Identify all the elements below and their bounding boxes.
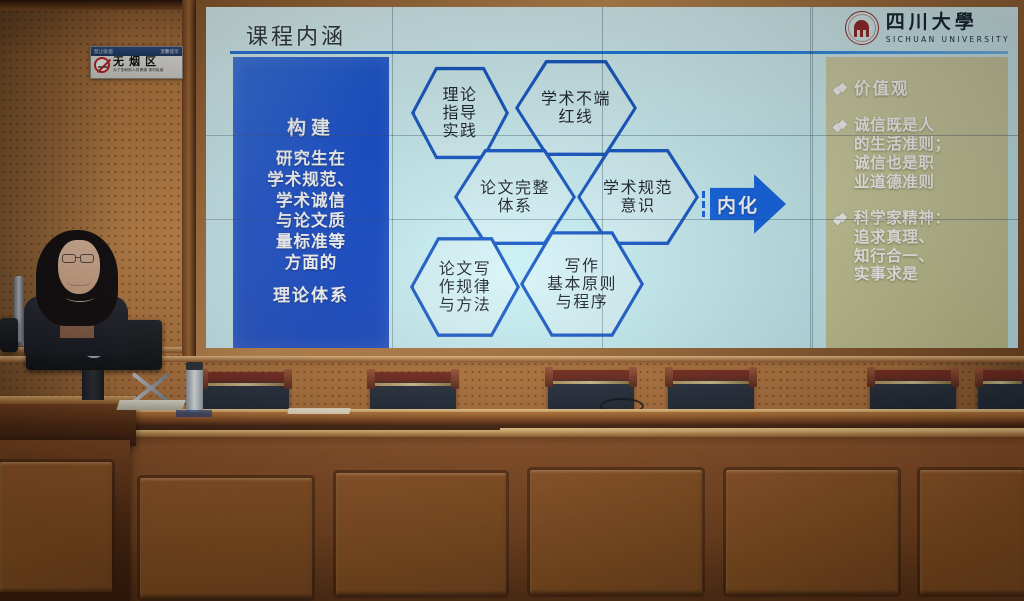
presenter-glasses-bridge [76,257,81,258]
monitor-stand [82,370,104,400]
presentation-slide: 课程内涵 四川大學 SICHUAN UNIVERSITY 构建 [206,7,1018,348]
wood-panel [726,470,898,594]
hex-line: 红线 [541,108,611,126]
hex-line: 实践 [442,122,477,140]
values-item: 价值观 [834,79,1000,99]
hex-line: 学术规范 [603,179,673,197]
scu-emblem-icon [845,11,879,45]
presenter-glasses-left [62,254,76,263]
values-item: 诚信既是人 的生活准则； 诚信也是职 业道德准则 [834,116,1000,192]
hex-misconduct-redline: 学术不端 红线 [515,58,637,158]
sign-sub-text: 为了您和他人的健康 请勿吸烟 [113,68,164,72]
values-panel: 价值观 诚信既是人 的生活准则； 诚信也是职 业道德准则 [826,57,1008,348]
laptop-on-stand[interactable] [116,400,185,410]
led-tile-seam [812,7,813,348]
led-tile-seam [392,7,393,348]
blue-block-line: 学术诚信 [267,191,355,212]
hex-theory-guides-practice: 理论 指导 实践 [411,65,509,161]
hex-line: 体系 [480,197,550,215]
wood-panel [336,473,506,595]
internalize-arrow-group: 内化 [702,173,786,235]
hex-line: 作规律 [439,278,492,296]
scu-logo: 四川大學 SICHUAN UNIVERSITY [845,11,1010,45]
mouse-pad [176,410,212,417]
sign-main-text: 无 烟 区 [113,57,164,68]
values-line: 诚信也是职 [854,154,951,173]
led-tile-seam [810,7,811,348]
sign-header: 禁止吸烟 温馨提示 [91,47,182,56]
thermos-cap [186,362,203,370]
hex-line: 意识 [603,197,673,215]
title-underline-rule [230,51,1008,54]
blue-block-line: 与论文质 [267,211,355,232]
hex-line: 写作 [547,257,617,275]
internalize-arrow-icon: 内化 [710,173,786,235]
hex-writing-principles: 写作 基本原则 与程序 [520,229,644,339]
diamond-bullet-icon [834,84,847,97]
values-item: 科学家精神： 追求真理、 知行合一、 实事求是 [834,209,1000,285]
hex-line: 理论 [442,86,477,104]
values-line: 诚信既是人 [854,116,951,135]
paper-document [287,408,350,414]
wall-pier-left [182,0,196,360]
values-line: 实事求是 [854,265,951,284]
scu-logo-name-cn: 四川大學 [886,13,1010,32]
values-line: 业道德准则 [854,173,951,192]
blue-block-line: 量标准等 [267,232,355,253]
values-line: 追求真理、 [854,228,951,247]
values-item-text: 诚信既是人 的生活准则； 诚信也是职 业道德准则 [854,116,951,192]
arrow-dots-icon [702,191,710,217]
no-smoking-sign: 禁止吸烟 温馨提示 无 烟 区 为了您和他人的健康 请勿吸烟 [90,46,183,79]
hex-line: 基本原则 [547,275,617,293]
blue-block-line: 研究生在 [267,149,355,170]
lecture-hall-scene: 禁止吸烟 温馨提示 无 烟 区 为了您和他人的健康 请勿吸烟 课程内涵 [0,0,1024,601]
panel-wall-top-trim [0,430,1024,437]
blue-block-body: 研究生在 学术规范、 学术诚信 与论文质 量标准等 方面的 [267,149,355,274]
values-line: 的生活准则； [854,135,951,154]
hex-thesis-writing-rules: 论文写 作规律 与方法 [410,235,520,339]
wood-panel [140,478,312,598]
blue-block-footer: 理论体系 [273,286,349,306]
hex-line: 论文写 [439,260,492,278]
values-item-text: 科学家精神： 追求真理、 知行合一、 实事求是 [854,209,951,285]
no-smoking-icon [94,57,110,73]
blue-block-line: 学术规范、 [267,170,355,191]
led-screen[interactable]: 课程内涵 四川大學 SICHUAN UNIVERSITY 构建 [206,7,1018,348]
sign-body: 无 烟 区 为了您和他人的健康 请勿吸烟 [91,56,182,74]
led-tile-seam [206,135,1018,136]
diamond-bullet-icon [834,121,847,134]
sign-header-left: 禁止吸烟 [94,49,113,55]
hex-line: 论文完整 [480,179,550,197]
hex-line: 与程序 [547,293,617,311]
hex-line: 学术不端 [541,90,611,108]
wood-panel [530,470,702,594]
scu-logo-name-en: SICHUAN UNIVERSITY [886,35,1010,44]
values-line: 价值观 [854,79,910,99]
sign-header-right: 温馨提示 [160,49,179,55]
hex-line: 与方法 [439,296,492,314]
blue-concept-block: 构建 研究生在 学术规范、 学术诚信 与论文质 量标准等 方面的 理论体系 [233,57,389,348]
slide-title: 课程内涵 [246,19,346,51]
podium-wood-panel [0,462,112,592]
second-monitor-edge [0,318,18,352]
led-tile-seam [602,7,603,348]
blue-block-line: 方面的 [267,253,355,274]
presenter-necklace [66,292,94,302]
arrow-label: 内化 [717,191,759,218]
values-item-text: 价值观 [854,79,910,99]
presenter-mouth [66,272,92,286]
presenter-glasses-right [80,254,94,263]
led-tile-seam [206,219,1018,220]
hex-line: 指导 [442,104,477,122]
thermos-bottle [186,368,203,412]
values-line: 知行合一、 [854,247,951,266]
wood-panel [920,470,1024,594]
podium-top-edge [0,396,136,404]
diamond-bullet-icon [834,214,847,227]
led-screen-frame: 课程内涵 四川大學 SICHUAN UNIVERSITY 构建 [196,0,1024,356]
